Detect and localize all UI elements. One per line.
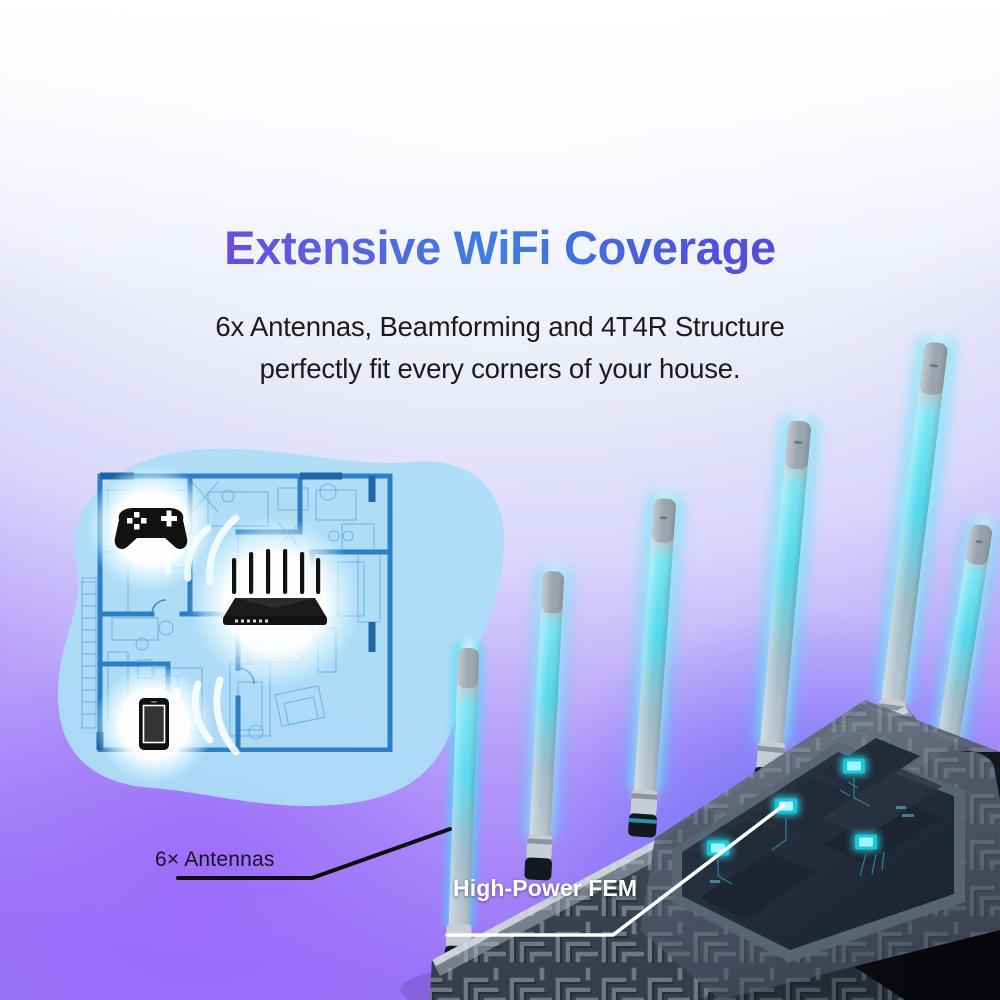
callout-antennas-label: 6× Antennas — [155, 848, 275, 872]
router-chassis — [400, 700, 1000, 1000]
router-product-photo — [0, 0, 1000, 1000]
page-title: Extensive WiFi Coverage — [0, 222, 1000, 274]
antenna-1 — [439, 639, 488, 968]
subtitle-line-2: perfectly fit every corners of your hous… — [260, 353, 741, 384]
antenna-3 — [622, 489, 686, 838]
antenna-2 — [519, 562, 574, 881]
callout-fem-label: High-Power FEM — [453, 875, 637, 902]
page-subtitle: 6x Antennas, Beamforming and 4T4R Struct… — [0, 306, 1000, 390]
subtitle-line-1: 6x Antennas, Beamforming and 4T4R Struct… — [215, 311, 784, 342]
marketing-banner: Extensive WiFi Coverage 6x Antennas, Bea… — [0, 0, 1000, 1000]
